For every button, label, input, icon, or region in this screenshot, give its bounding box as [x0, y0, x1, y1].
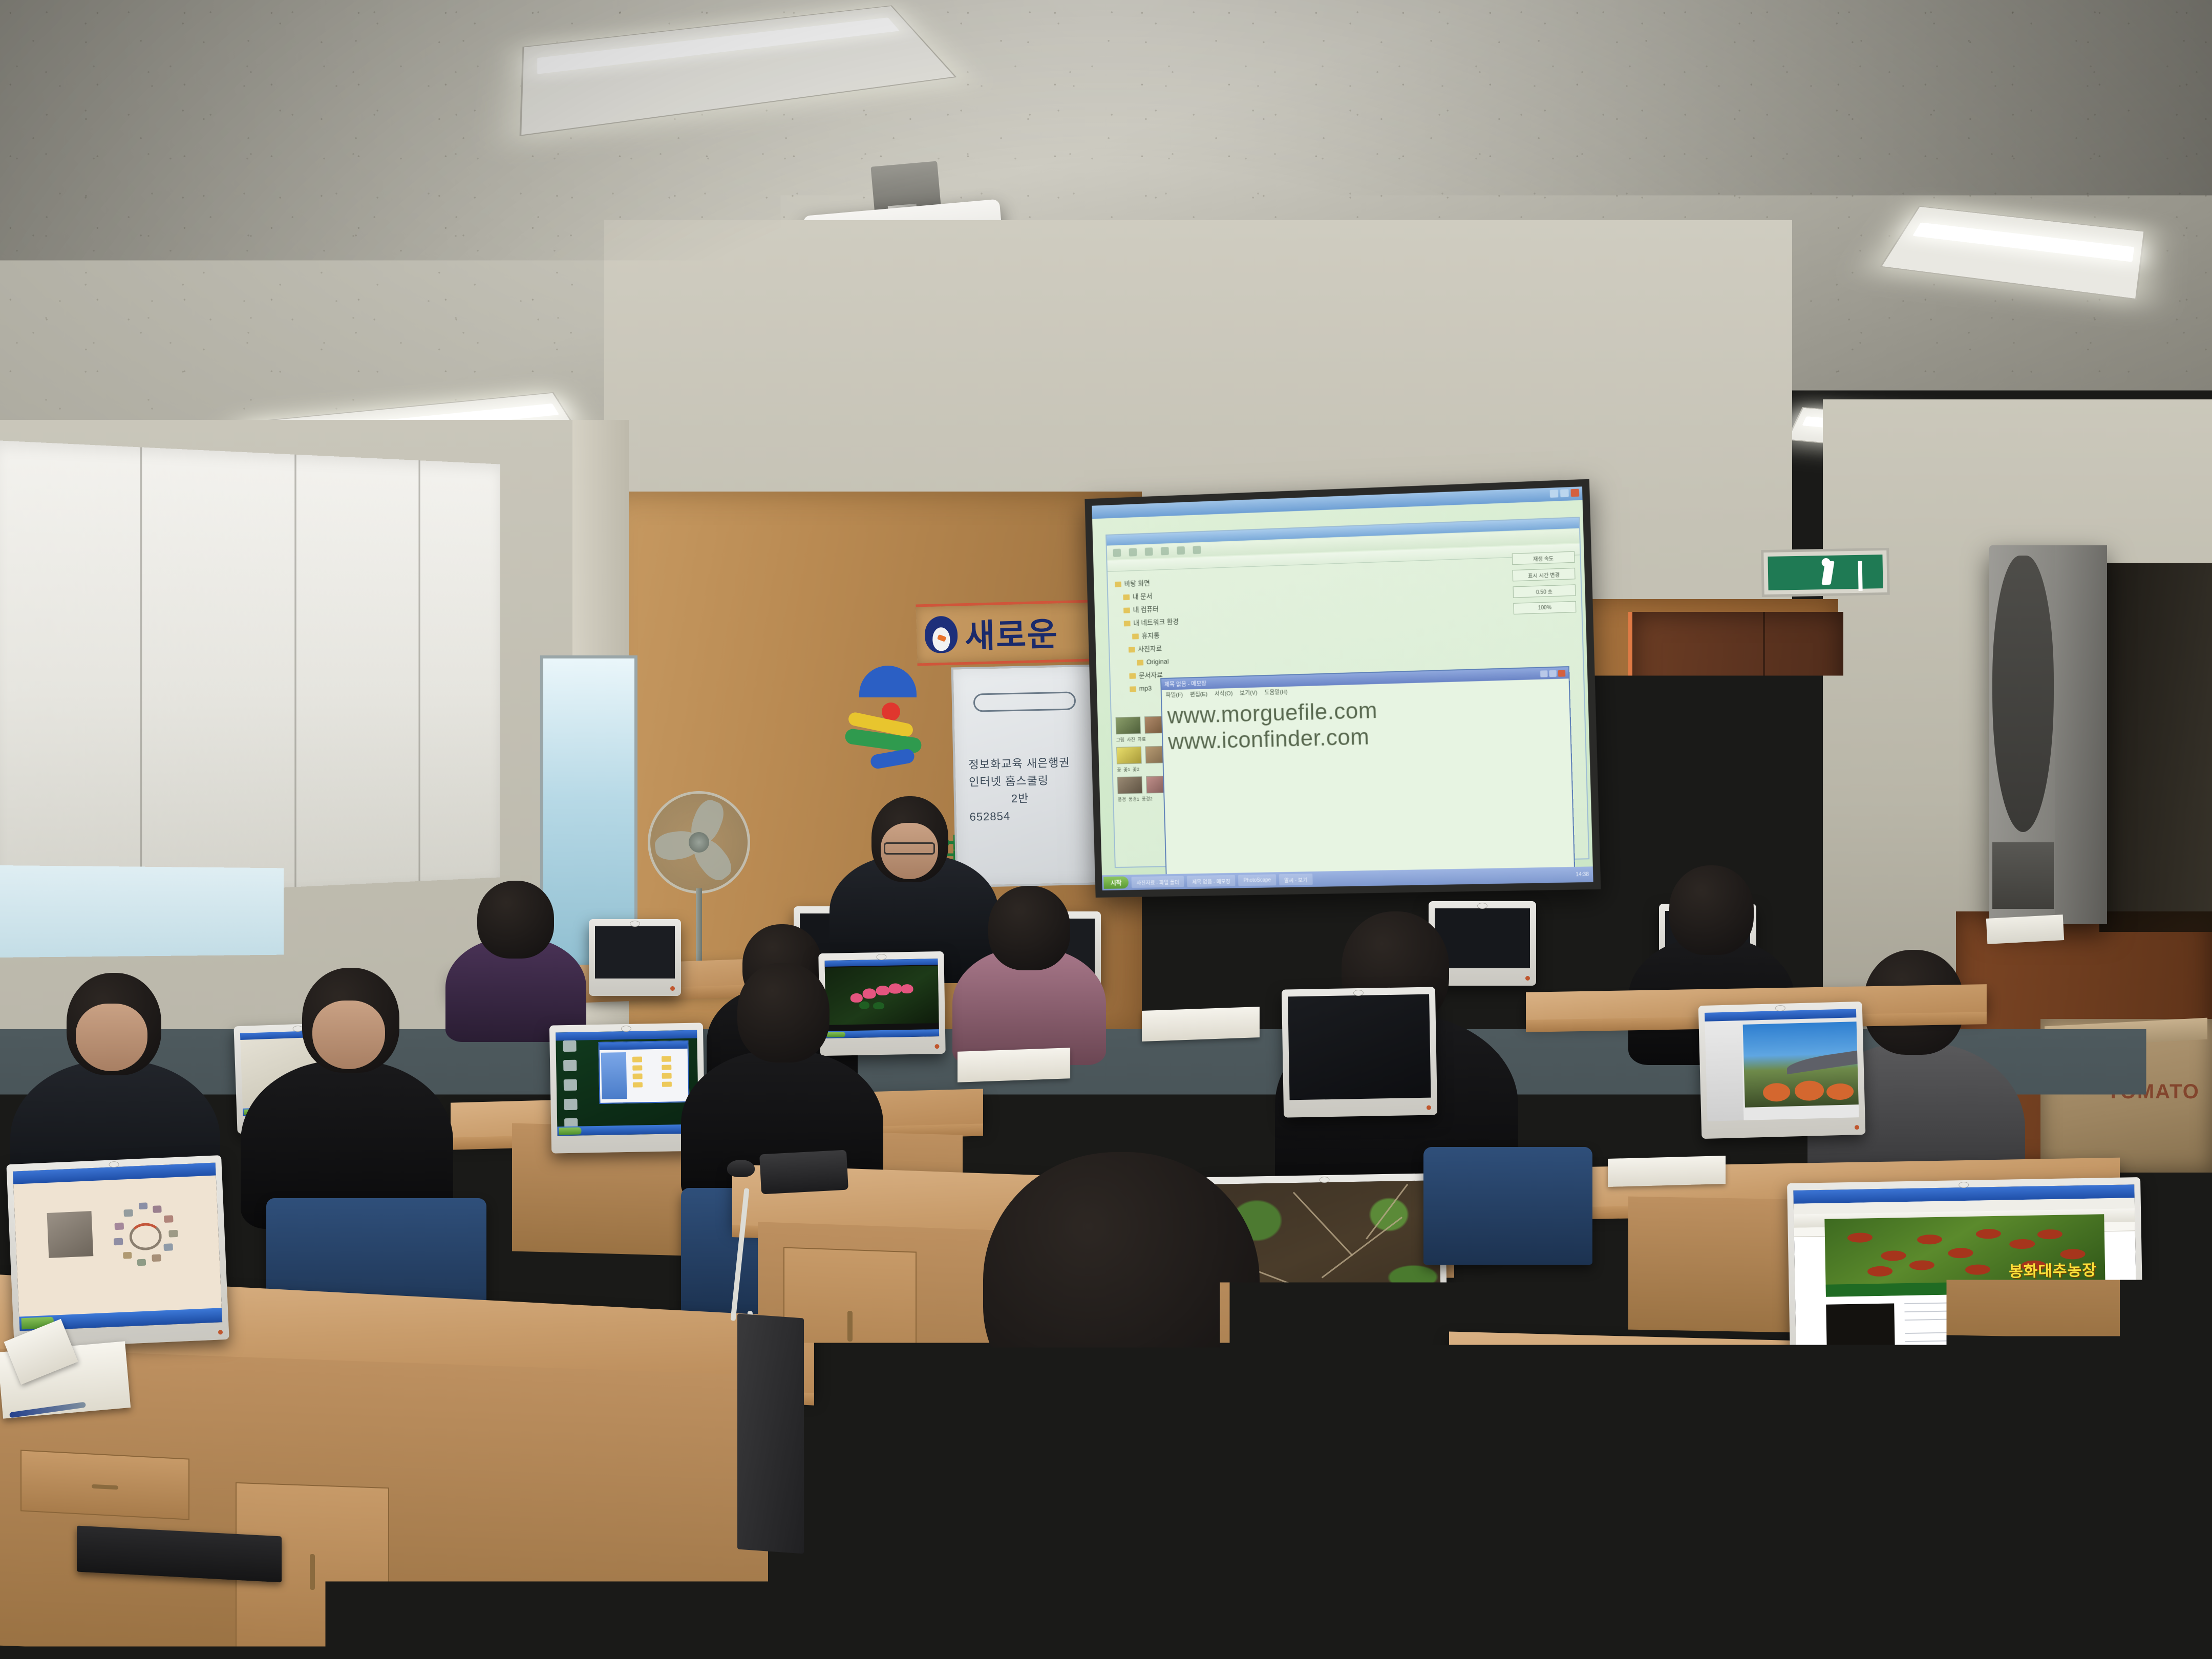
site-navbar[interactable] — [1825, 1280, 2105, 1297]
photo-editor-tool-panel[interactable] — [1705, 1020, 1743, 1121]
explorer-side-pane[interactable] — [601, 1052, 627, 1099]
maximize-icon[interactable] — [1549, 670, 1557, 677]
back-icon[interactable] — [1113, 548, 1121, 557]
mascot-decoration — [850, 666, 927, 783]
pink-student-head — [988, 886, 1070, 970]
menu-format[interactable]: 서식(O) — [1215, 689, 1233, 699]
screen-front-left — [13, 1163, 222, 1331]
taskbar-item[interactable]: 알씨 - 보기 — [1279, 874, 1313, 885]
forward-icon[interactable] — [1129, 548, 1137, 556]
hp-logo-icon — [1477, 903, 1487, 909]
left-hoodie-face — [312, 1001, 385, 1069]
power-led — [1895, 1499, 1900, 1504]
remote-control[interactable] — [759, 1150, 848, 1195]
foreground-head — [983, 1152, 1260, 1418]
power-led — [934, 1044, 939, 1049]
monitor-center-right-dark[interactable] — [1282, 987, 1437, 1117]
display-time-button[interactable]: 표시 시간 변경 — [1513, 568, 1576, 581]
whiteboard-line-2: 인터넷 홈스쿨링 — [969, 772, 1071, 791]
paper-sheet-center[interactable] — [958, 1048, 1070, 1082]
power-led — [1437, 1373, 1442, 1378]
thumb-label: 풍경 — [1118, 797, 1126, 802]
center-left-head — [737, 963, 829, 1062]
pc-tower — [737, 1313, 804, 1554]
person-left-purple — [445, 881, 589, 1034]
chair-right[interactable] — [1603, 1229, 1756, 1336]
tray-clock: 14:38 — [1576, 871, 1589, 878]
cabinet-pull-icon[interactable] — [310, 1554, 315, 1590]
person-center-pink — [952, 886, 1111, 1055]
desktop-icons[interactable] — [559, 1040, 591, 1125]
hp-logo-icon — [876, 954, 886, 960]
site-content-lines — [1904, 1300, 2108, 1432]
thumbnail[interactable] — [1117, 776, 1143, 794]
purple-student-head — [477, 881, 554, 959]
fan-pole — [696, 888, 702, 970]
search-icon[interactable] — [1161, 547, 1169, 555]
taskbar-item[interactable]: 제목 없음 - 메모장 — [1187, 875, 1236, 887]
paper-sheet-right[interactable] — [1608, 1156, 1726, 1187]
power-led — [218, 1330, 223, 1334]
drawer-pull-icon[interactable] — [92, 1484, 118, 1490]
thumb-label: 그림 — [1116, 737, 1124, 742]
xp-explorer-window[interactable] — [598, 1040, 690, 1104]
mouse[interactable] — [727, 1160, 755, 1177]
thumb-label: 사진 — [1127, 737, 1135, 742]
fan-hub — [689, 832, 709, 853]
thumb-label: 꽃1 — [1123, 767, 1130, 772]
hp-logo-icon — [630, 921, 640, 927]
wall-sign-text: 새로운 — [964, 608, 1059, 657]
circle-logo-website — [13, 1163, 222, 1331]
menu-help[interactable]: 도움말(H) — [1264, 688, 1288, 697]
system-tray[interactable]: 14:38 — [1576, 871, 1589, 878]
menu-file[interactable]: 파일(F) — [1166, 691, 1183, 700]
person-left-black-hoodie — [241, 968, 456, 1224]
korean-temple-photo — [1743, 1022, 1859, 1108]
left-window-glass — [0, 865, 284, 958]
whiteboard-oval-mark — [973, 691, 1076, 712]
close-icon[interactable] — [1558, 670, 1566, 677]
tv-shadow — [2099, 563, 2212, 932]
monitor-front-left[interactable] — [6, 1155, 229, 1349]
notepad-textarea[interactable]: www.morguefile.com www.iconfinder.com — [1162, 689, 1570, 758]
projected-notepad-window[interactable]: 제목 없음 - 메모장 파일(F) 편집(E) 서식(O) 보기(V) 도움말(… — [1160, 666, 1575, 881]
keyboard-foreground-right[interactable] — [1761, 1579, 2186, 1659]
thumbnail[interactable] — [1116, 716, 1141, 734]
right-back-head — [1669, 865, 1754, 955]
thumb-label: 꽃2 — [1133, 767, 1139, 772]
desk-drawer-left[interactable] — [20, 1450, 189, 1520]
up-icon[interactable] — [1145, 547, 1153, 556]
screen-center-right-dark — [1288, 994, 1431, 1100]
thumb-label: 풍경1 — [1129, 797, 1139, 802]
whiteboard-line-1: 정보화교육 새은행권 — [968, 754, 1070, 774]
taskbar-item[interactable]: 사진자료 - 파일 폴더 — [1132, 876, 1184, 888]
thumbnail[interactable] — [1116, 747, 1142, 764]
explorer-right-pane[interactable]: 재생 속도 표시 시간 변경 0.50 초 100% — [1512, 551, 1577, 620]
display-time-value: 0.50 초 — [1513, 584, 1576, 598]
power-led — [1525, 976, 1530, 981]
thumb-label: 풍경2 — [1142, 796, 1153, 801]
emergency-exit-icon — [1761, 548, 1890, 597]
power-led — [1427, 1105, 1431, 1110]
playback-speed-button[interactable]: 재생 속도 — [1512, 551, 1575, 565]
person-center-front — [829, 1152, 1418, 1659]
zoom-level: 100% — [1513, 601, 1576, 614]
power-led — [670, 986, 675, 991]
jujube-banner: 봉화대추농장 — [1824, 1215, 2105, 1297]
monitor-back-left-1[interactable] — [589, 919, 681, 996]
menu-edit[interactable]: 편집(E) — [1190, 690, 1208, 699]
power-led — [1855, 1125, 1859, 1130]
projection-screen: 바탕 화면 내 문서 내 컴퓨터 내 네트워크 환경 휴지통 사진자료 Orig… — [1084, 479, 1601, 898]
site-hero-image — [47, 1211, 94, 1258]
minimize-icon[interactable] — [1540, 670, 1548, 677]
screen-left-xp — [556, 1030, 698, 1136]
door-sign — [1786, 831, 1799, 857]
window-roller-blinds[interactable] — [0, 440, 500, 901]
views-icon[interactable] — [1193, 546, 1201, 554]
screen-temple-photo — [1705, 1009, 1859, 1121]
paper-sheet-center-2[interactable] — [1142, 1007, 1260, 1041]
thumb-label: 꽃 — [1117, 767, 1121, 772]
jujube-site-title: 봉화대추농장 — [2009, 1257, 2097, 1281]
penguin-logo-icon — [924, 615, 958, 653]
screen-back-left-1 — [595, 926, 675, 979]
menu-view[interactable]: 보기(V) — [1240, 689, 1258, 698]
taskbar-item[interactable]: PhotoScape — [1238, 874, 1276, 886]
classroom-scene: 새로운 응 업 정보화교육 새은행권 인터넷 홈스쿨링 2반 652854 — [0, 0, 2212, 1659]
stacked-papers — [1986, 914, 2064, 944]
monitor-temple-photo[interactable] — [1698, 1002, 1866, 1139]
folders-icon[interactable] — [1177, 546, 1185, 555]
large-crt-television — [1989, 545, 2107, 924]
electric-floor-fan[interactable] — [648, 791, 750, 894]
thumb-label: 자료 — [1138, 737, 1146, 742]
screen-front-right-small — [1736, 1363, 1900, 1494]
monitor-front-right-small[interactable] — [1729, 1355, 1906, 1512]
eyeglasses-icon — [884, 842, 935, 855]
front-left-face — [76, 1004, 147, 1071]
chair-center[interactable] — [1423, 1147, 1592, 1265]
power-led — [2135, 1459, 2139, 1464]
